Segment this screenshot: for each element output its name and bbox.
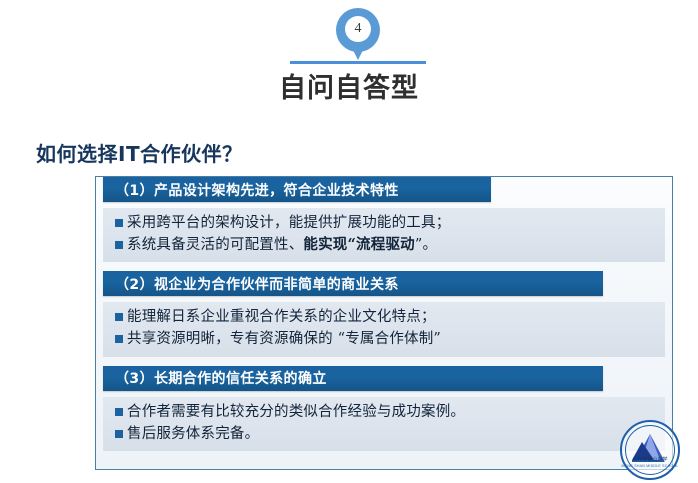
section-3-body: 合作者需要有比较充分的类似合作经验与成功案例。 售后服务体系完备。 [103,397,665,451]
bullet-square-icon [115,408,123,416]
list-item-text: 售后服务体系完备。 [127,424,259,444]
page-title: 自问自答型 [0,66,698,105]
slide-number-pin: 4 [336,8,382,64]
section-2-header-bar: （2）视企业为合作伙伴而非简单的商业关系 [103,271,603,296]
school-logo-watermark: 山东省蒙山中学 MENG SHAN MIDDLE SCHOOL [620,420,682,482]
list-item: 售后服务体系完备。 [103,423,665,445]
list-item-text: 合作者需要有比较充分的类似合作经验与成功案例。 [127,402,465,422]
content-section-2: （2）视企业为合作伙伴而非简单的商业关系 能理解日系企业重视合作关系的企业文化特… [96,271,672,356]
section-2-header-text: （2）视企业为合作伙伴而非简单的商业关系 [103,274,399,294]
section-1-body: 采用跨平台的架构设计，能提供扩展功能的工具； 系统具备灵活的可配置性、能实现“流… [103,208,665,262]
list-item: 共享资源明晰，专有资源确保的 “专属合作体制” [103,328,665,350]
bullet-square-icon [115,219,123,227]
bullet-square-icon [115,313,123,321]
bullet-square-icon [115,430,123,438]
pin-number-badge: 4 [345,16,371,42]
logo-chinese-text: 山东省蒙山中学 [620,456,680,463]
list-item-text: 采用跨平台的架构设计，能提供扩展功能的工具； [127,213,450,233]
content-panel: （1）产品设计架构先进，符合企业技术特性 采用跨平台的架构设计，能提供扩展功能的… [95,176,673,470]
list-item: 采用跨平台的架构设计，能提供扩展功能的工具； [103,212,665,234]
content-section-3: （3）长期合作的信任关系的确立 合作者需要有比较充分的类似合作经验与成功案例。 … [96,366,672,451]
section-3-header-text: （3）长期合作的信任关系的确立 [103,368,327,388]
list-item: 系统具备灵活的可配置性、能实现“流程驱动”。 [103,234,665,256]
logo-mountain-icon [620,420,680,480]
pin-number-text: 4 [355,22,362,36]
list-item-text: 系统具备灵活的可配置性、能实现“流程驱动”。 [127,235,437,255]
list-item: 能理解日系企业重视合作关系的企业文化特点； [103,306,665,328]
section-spacer [96,357,672,366]
section-spacer [96,262,672,271]
section-2-body: 能理解日系企业重视合作关系的企业文化特点； 共享资源明晰，专有资源确保的 “专属… [103,302,665,356]
list-item-text: 能理解日系企业重视合作关系的企业文化特点； [127,307,436,327]
title-divider [290,61,426,64]
content-section-1: （1）产品设计架构先进，符合企业技术特性 采用跨平台的架构设计，能提供扩展功能的… [96,177,672,262]
section-1-header-text: （1）产品设计架构先进，符合企业技术特性 [103,180,399,200]
slide-canvas: 4 自问自答型 如何选择IT合作伙伴？ （1）产品设计架构先进，符合企业技术特性… [0,0,698,483]
section-3-header-bar: （3）长期合作的信任关系的确立 [103,366,603,391]
section-question-heading: 如何选择IT合作伙伴？ [36,138,243,167]
bullet-square-icon [115,335,123,343]
section-1-header-bar: （1）产品设计架构先进，符合企业技术特性 [103,177,491,202]
logo-english-text: MENG SHAN MIDDLE SCHOOL [620,464,680,468]
list-item-text: 共享资源明晰，专有资源确保的 “专属合作体制” [127,329,441,349]
bullet-square-icon [115,241,123,249]
list-item: 合作者需要有比较充分的类似合作经验与成功案例。 [103,401,665,423]
